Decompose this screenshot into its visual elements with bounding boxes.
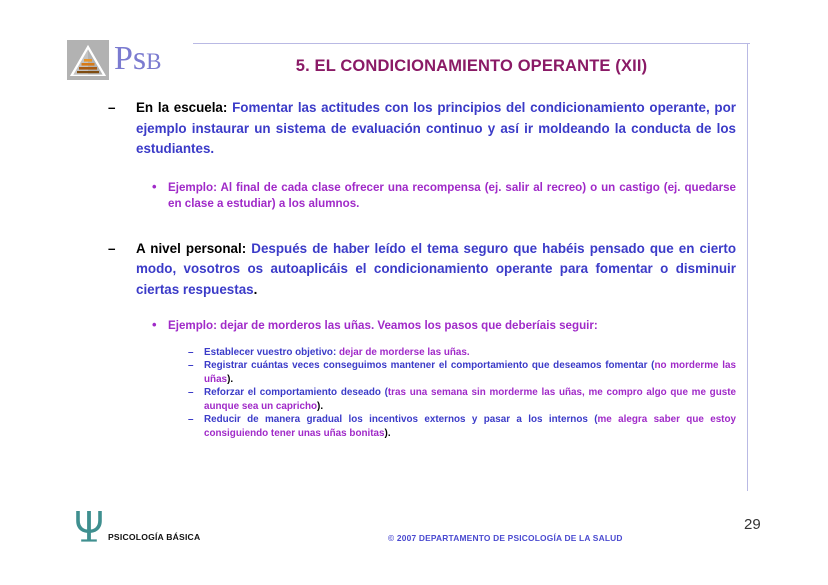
page-number: 29 [744,516,761,533]
step-text-primary: Establecer vuestro objetivo [204,347,333,358]
dash-bullet-icon: – [108,239,115,260]
step-text-trailing: ). [317,401,323,412]
step-text-highlight: dejar de morderse las uñas. [339,347,470,358]
list-item-step: –Registrar cuántas veces conseguimos man… [0,359,828,386]
slide-header: PsB 5. EL CONDICIONAMIENTO OPERANTE (XII… [66,36,750,90]
bullet-level2-ejemplo-escuela: •Ejemplo: Al final de cada clase ofrecer… [0,180,828,213]
bullet-body-text: Ejemplo: dejar de morderos las uñas. Vea… [168,319,598,332]
psb-logo-wordmark: PsB [114,39,161,82]
footer-department-label: PSICOLOGÍA BÁSICA [108,532,200,542]
title-rule: 5. EL CONDICIONAMIENTO OPERANTE (XII) [193,43,750,88]
dash-bullet-icon: – [188,413,194,427]
bullet-body-text: Ejemplo: Al final de cada clase ofrecer … [168,181,736,211]
step-text-primary: Reducir de manera gradual los incentivos… [204,414,598,425]
psi-symbol-icon [72,509,106,543]
dot-bullet-icon: • [152,179,157,196]
step-text-trailing: ). [385,428,391,439]
step-text-primary: Registrar cuántas veces conseguimos mant… [204,360,654,371]
bullet-colon: : [223,100,232,115]
dash-bullet-icon: – [188,359,194,373]
dash-bullet-icon: – [108,98,115,119]
page-title: 5. EL CONDICIONAMIENTO OPERANTE (XII) [193,57,750,76]
slide-body: –En la escuela: Fomentar las actitudes c… [0,98,828,441]
dash-bullet-icon: – [188,346,194,360]
footer-copyright: © 2007 DEPARTAMENTO DE PSICOLOGÍA DE LA … [388,533,623,543]
slide-canvas: PsB 5. EL CONDICIONAMIENTO OPERANTE (XII… [0,0,828,585]
spacer [0,213,828,239]
slide-footer: PSICOLOGÍA BÁSICA © 2007 DEPARTAMENTO DE… [0,508,828,553]
bullet-colon: : [242,241,252,256]
bullet-level2-ejemplo-unas: •Ejemplo: dejar de morderos las uñas. Ve… [0,318,828,335]
spacer [0,160,828,180]
bullet-lead-label: A nivel personal [136,241,242,256]
list-item-step: –Establecer vuestro objetivo: dejar de m… [0,346,828,360]
bullet-level1-personal: –A nivel personal: Después de haber leíd… [0,239,828,301]
step-text-trailing: ). [227,374,233,385]
spacer [0,335,828,346]
pyramid-strata-logo-icon [66,39,112,83]
dash-bullet-icon: – [188,386,194,400]
bullet-lead-label: En la escuela [136,100,223,115]
list-item-step: –Reducir de manera gradual los incentivo… [0,413,828,440]
spacer [0,300,828,318]
bullet-tail-punct: . [254,282,258,297]
step-text-primary: Reforzar el comportamiento deseado ( [204,387,388,398]
list-item-step: –Reforzar el comportamiento deseado (tra… [0,386,828,413]
dot-bullet-icon: • [152,317,157,334]
bullet-level1-escuela: –En la escuela: Fomentar las actitudes c… [0,98,828,160]
psb-logo: PsB [66,39,176,85]
